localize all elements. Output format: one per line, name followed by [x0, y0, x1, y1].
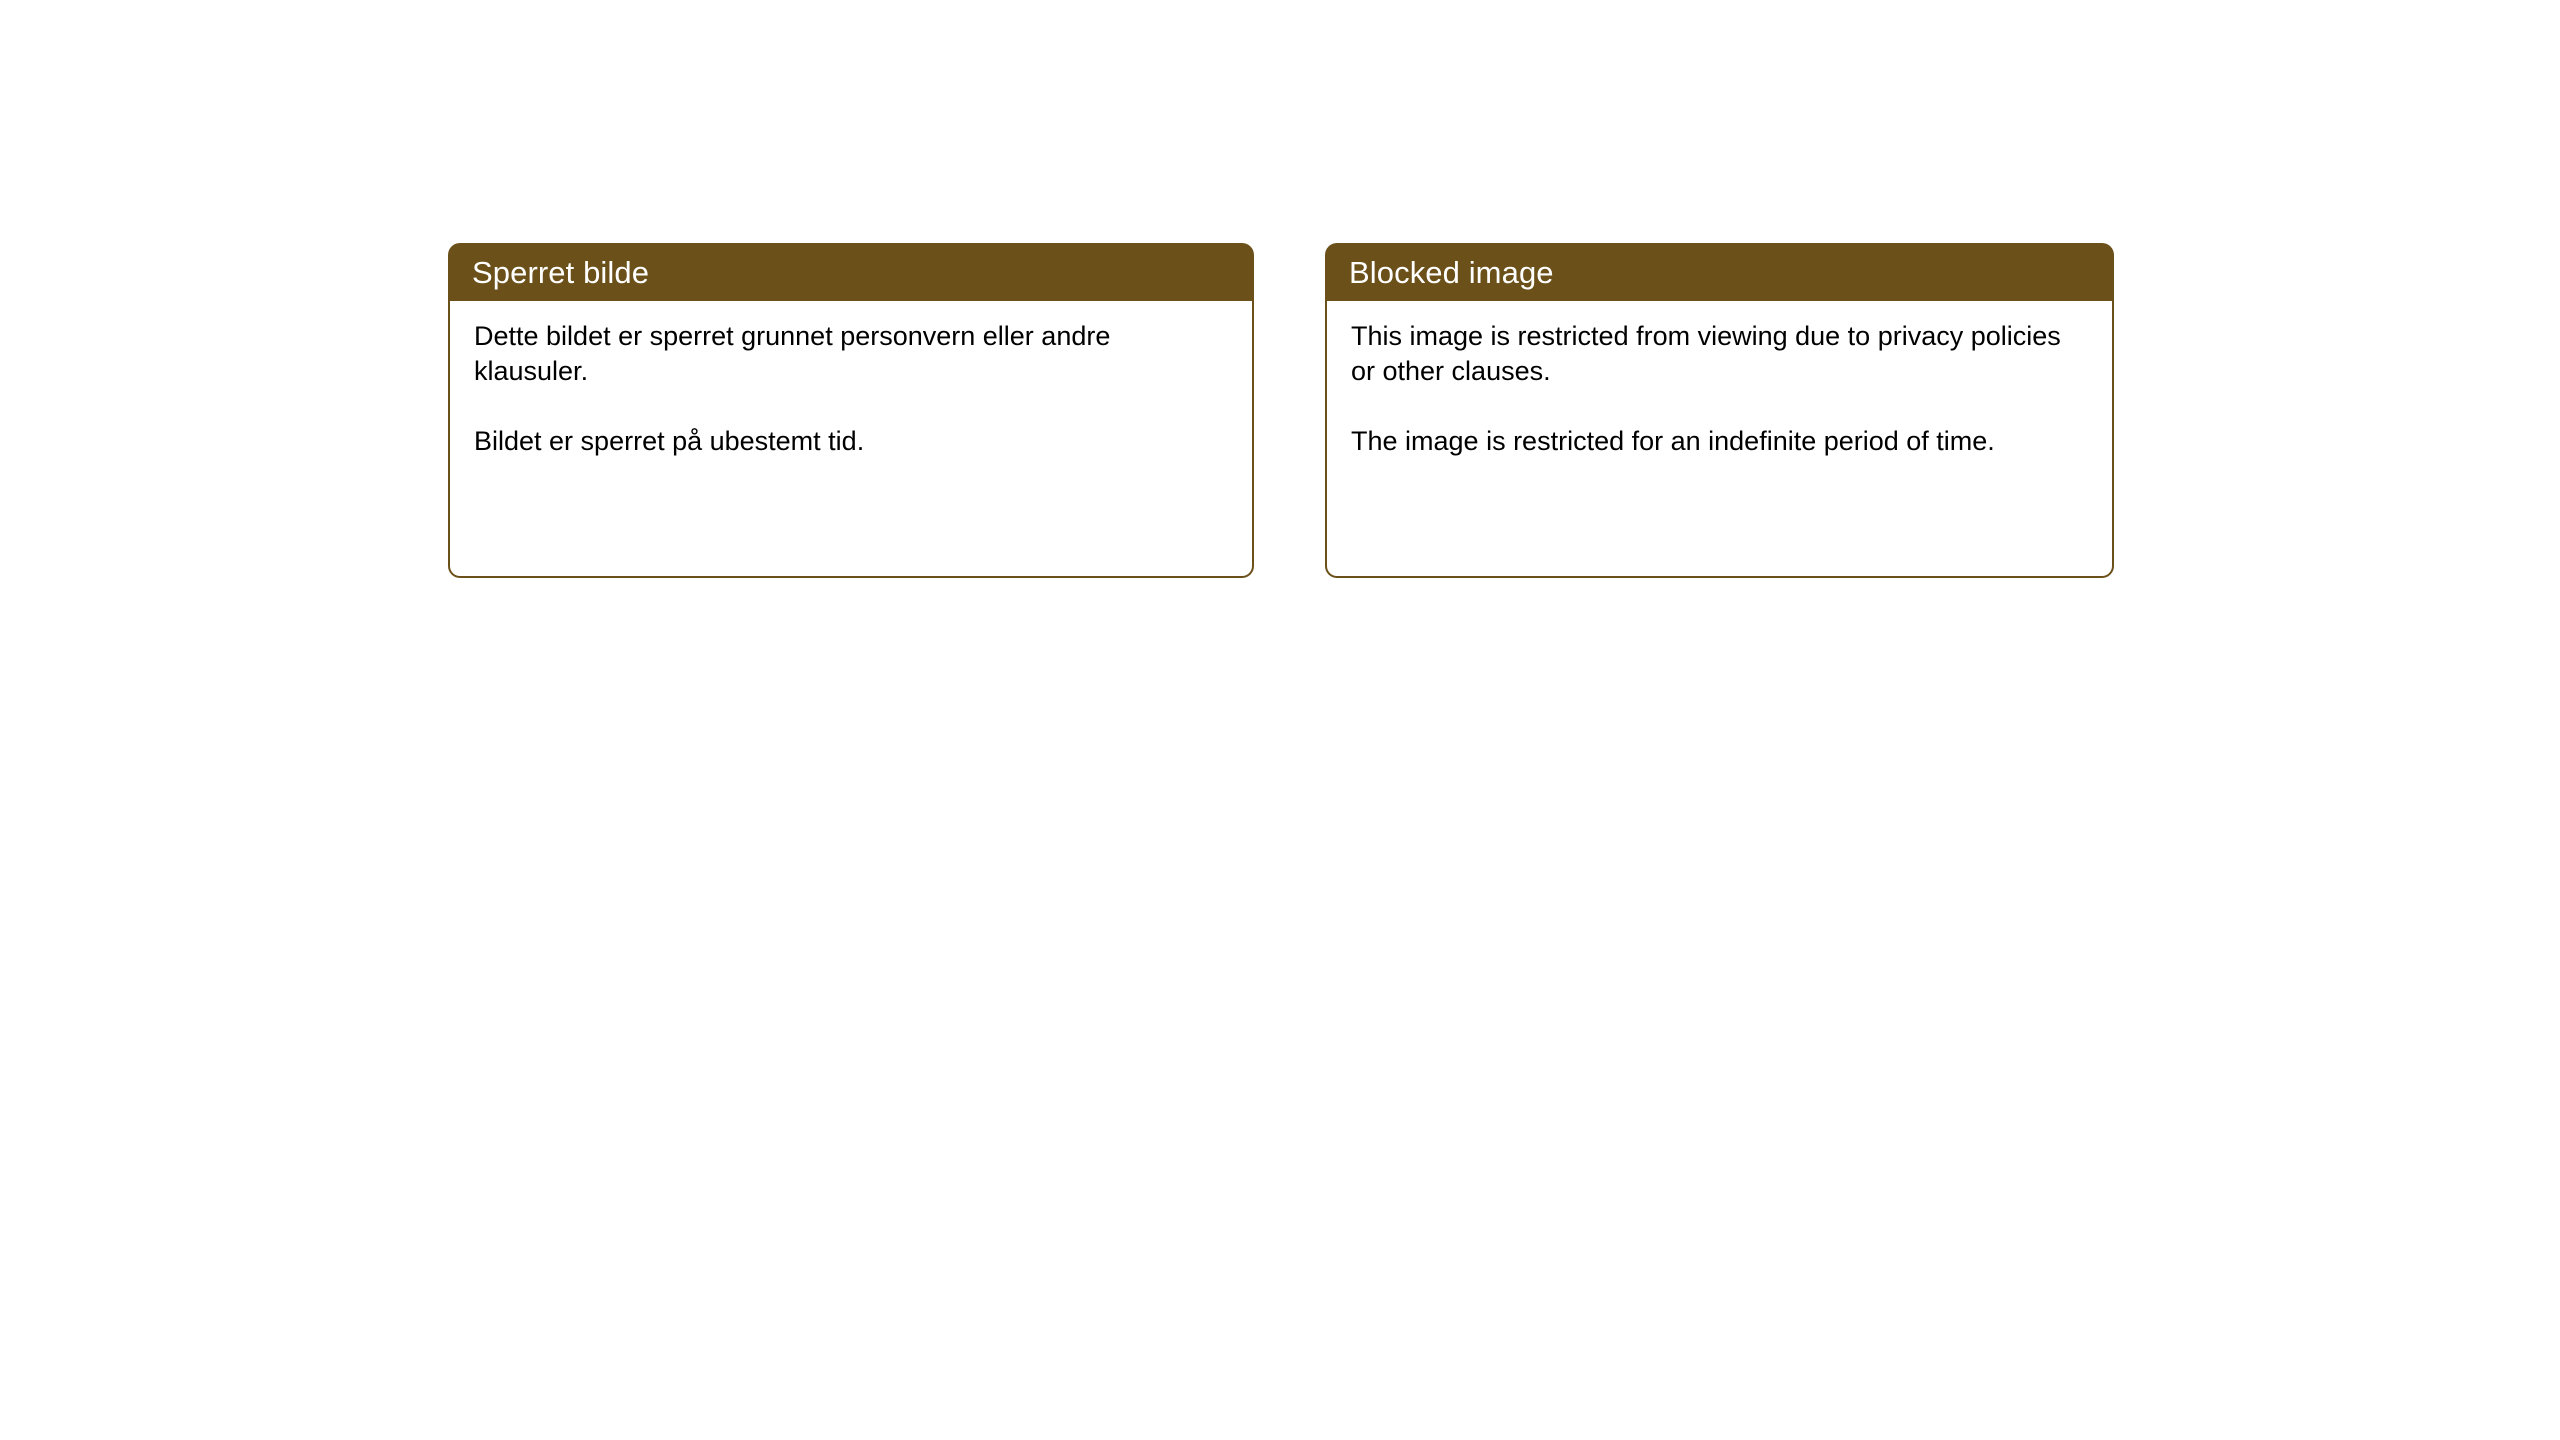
panel-title-norwegian: Sperret bilde	[472, 257, 649, 288]
paragraph-spacer	[474, 389, 1230, 424]
panel-paragraph-primary-norwegian: Dette bildet er sperret grunnet personve…	[474, 319, 1230, 389]
blocked-image-notice-norwegian: Sperret bilde Dette bildet er sperret gr…	[448, 243, 1254, 579]
panel-body-english: This image is restricted from viewing du…	[1325, 301, 2114, 578]
panel-body-norwegian: Dette bildet er sperret grunnet personve…	[448, 301, 1254, 578]
panel-title-english: Blocked image	[1349, 257, 1554, 288]
paragraph-spacer	[1351, 389, 2090, 424]
page-root: Sperret bilde Dette bildet er sperret gr…	[0, 0, 2560, 1440]
panel-paragraph-secondary-english: The image is restricted for an indefinit…	[1351, 424, 2090, 459]
blocked-image-notice-english: Blocked image This image is restricted f…	[1325, 243, 2114, 579]
panel-paragraph-secondary-norwegian: Bildet er sperret på ubestemt tid.	[474, 424, 1230, 459]
panel-paragraph-primary-english: This image is restricted from viewing du…	[1351, 319, 2090, 389]
panel-header-english: Blocked image	[1325, 243, 2114, 301]
panel-header-norwegian: Sperret bilde	[448, 243, 1254, 301]
